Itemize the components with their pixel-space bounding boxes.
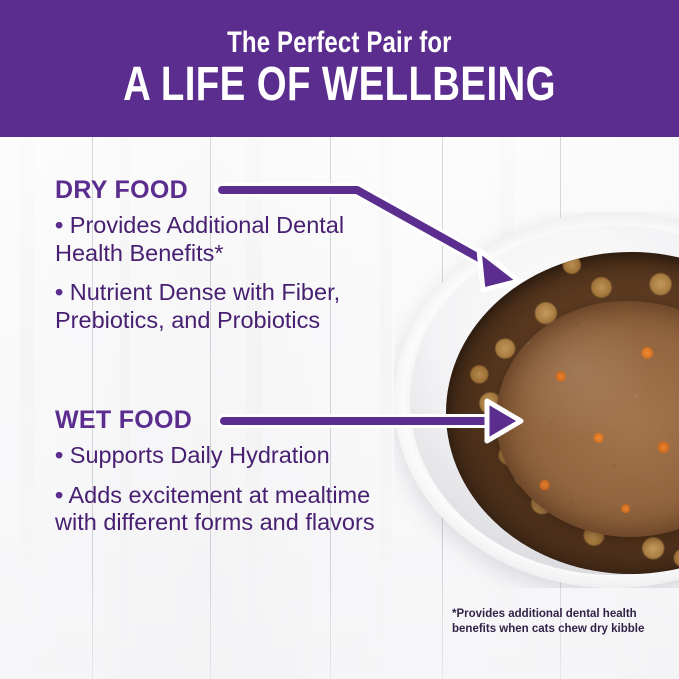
- bullet-dot-icon: •: [55, 279, 63, 305]
- wet-food-heading: WET FOOD: [55, 406, 192, 435]
- list-item: • Provides Additional Dental Health Bene…: [55, 212, 375, 267]
- header-banner: The Perfect Pair for A LIFE OF WELLBEING: [0, 0, 679, 137]
- dry-food-bullet-list: • Provides Additional Dental Health Bene…: [55, 212, 375, 347]
- list-item: • Supports Daily Hydration: [55, 442, 375, 470]
- footnote-text: *Provides additional dental health benef…: [452, 607, 667, 637]
- bullet-dot-icon: •: [55, 442, 63, 468]
- bullet-dot-icon: •: [55, 212, 63, 238]
- header-subtitle: The Perfect Pair for: [227, 27, 452, 59]
- list-item-text: Provides Additional Dental Health Benefi…: [55, 212, 344, 266]
- list-item-text: Nutrient Dense with Fiber, Prebiotics, a…: [55, 279, 340, 333]
- wet-food-bullet-list: • Supports Daily Hydration • Adds excite…: [55, 442, 375, 549]
- list-item: • Nutrient Dense with Fiber, Prebiotics,…: [55, 279, 375, 334]
- dry-food-heading: DRY FOOD: [55, 176, 188, 205]
- list-item-text: Supports Daily Hydration: [70, 442, 330, 468]
- list-item: • Adds excitement at mealtime with diffe…: [55, 482, 375, 537]
- list-item-text: Adds excitement at mealtime with differe…: [55, 482, 375, 536]
- infographic-page: The Perfect Pair for A LIFE OF WELLBEING…: [0, 0, 679, 679]
- page-title: A LIFE OF WELLBEING: [123, 60, 556, 110]
- bullet-dot-icon: •: [55, 482, 63, 508]
